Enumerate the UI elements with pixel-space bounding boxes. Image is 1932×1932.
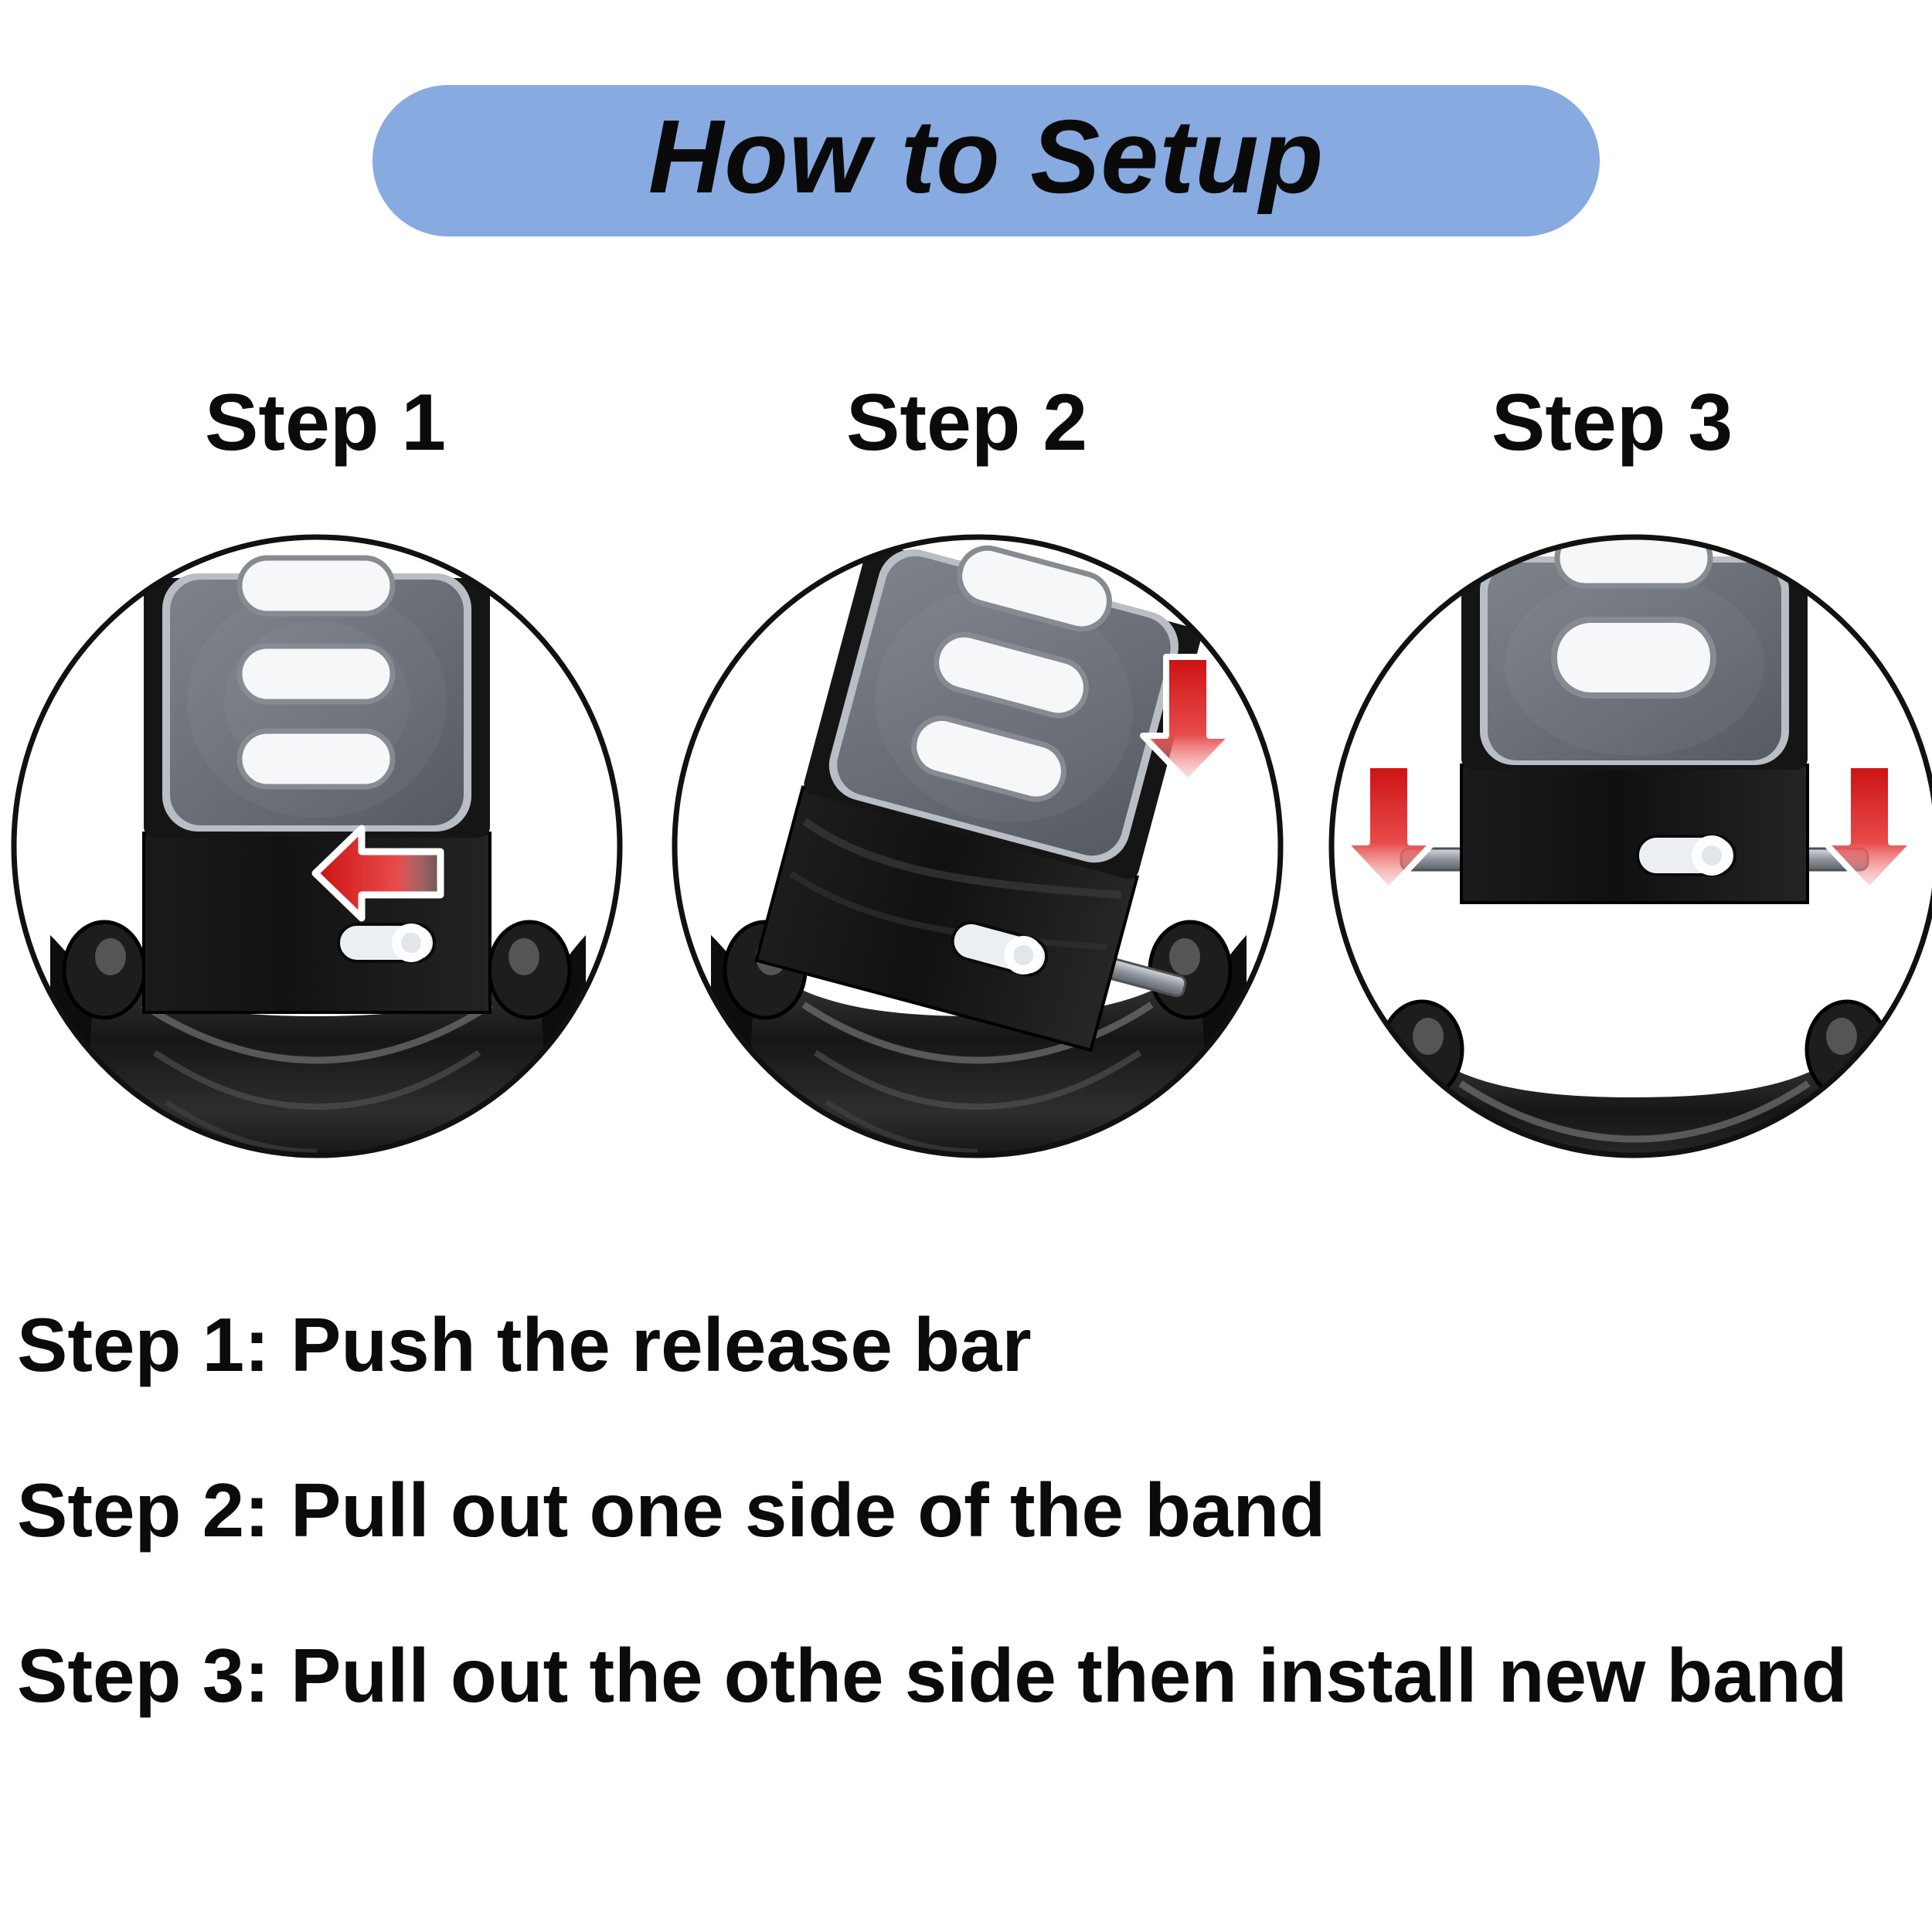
step-illustration-1 <box>8 533 626 1159</box>
step-illustration-3 <box>1325 533 1932 1159</box>
header-banner: How to Setup <box>372 85 1600 236</box>
step-illustrations-row <box>0 533 1932 1175</box>
instruction-graphic: How to Setup Step 1 Step 2 Step 3 <box>0 0 1932 1932</box>
watch-body-3 <box>1461 765 1808 903</box>
step-label-2: Step 2 <box>846 379 1087 467</box>
step-labels-row: Step 1 Step 2 Step 3 <box>0 379 1932 479</box>
release-slider-3 <box>1638 835 1735 876</box>
step-illustration-2 <box>668 533 1287 1159</box>
page-title: How to Setup <box>648 104 1324 209</box>
watch-face-buttons-1 <box>240 558 393 787</box>
step-label-1: Step 1 <box>205 379 446 467</box>
release-slider-1 <box>338 923 434 962</box>
instruction-line-3: Step 3: Pull out the othe side then inst… <box>17 1637 1926 1716</box>
instruction-line-1: Step 1: Push the release bar <box>17 1306 1926 1385</box>
instruction-line-2: Step 2: Pull out one side of the band <box>17 1471 1926 1550</box>
step-label-3: Step 3 <box>1492 379 1733 467</box>
instructions-list: Step 1: Push the release bar Step 2: Pul… <box>17 1306 1926 1716</box>
